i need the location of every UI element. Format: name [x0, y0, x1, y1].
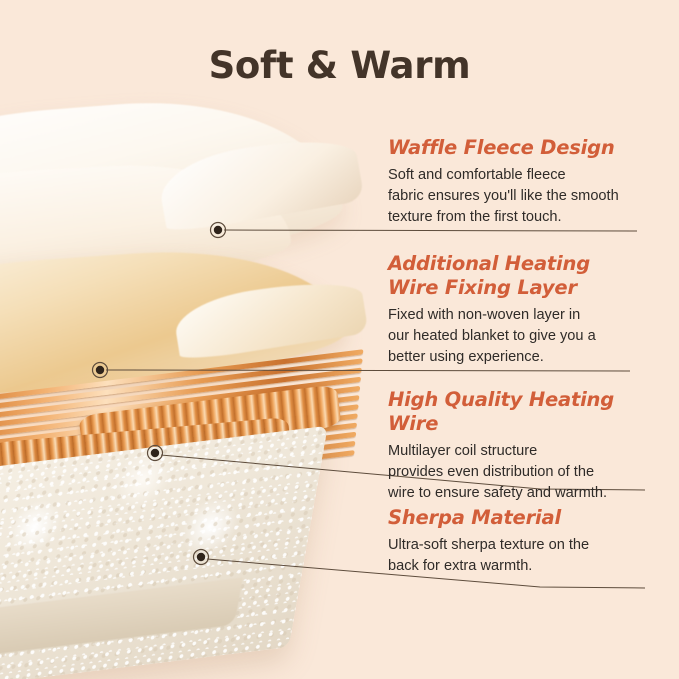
product-infographic: Soft & Warm Waffle Fleece Design Soft an…	[0, 0, 679, 679]
feature-body: Multilayer coil structure provides even …	[388, 441, 656, 504]
feature-heading: Waffle Fleece Design	[388, 136, 656, 160]
feature-heading: Sherpa Material	[388, 506, 656, 530]
product-illustration	[0, 0, 380, 679]
feature-body: Soft and comfortable fleece fabric ensur…	[388, 165, 656, 228]
feature-body: Ultra-soft sherpa texture on the back fo…	[388, 535, 656, 577]
feature-heading: High Quality Heating Wire	[388, 388, 656, 436]
feature-callout-high-quality-heating-wire: High Quality Heating Wire Multilayer coi…	[388, 388, 656, 504]
page-title: Soft & Warm	[0, 44, 679, 87]
feature-callout-waffle-fleece-design: Waffle Fleece Design Soft and comfortabl…	[388, 136, 656, 228]
feature-callout-additional-heating-wire-fixing-layer: Additional Heating Wire Fixing Layer Fix…	[388, 252, 656, 368]
feature-body: Fixed with non-woven layer in our heated…	[388, 305, 656, 368]
feature-callout-sherpa-material: Sherpa Material Ultra-soft sherpa textur…	[388, 506, 656, 577]
feature-heading: Additional Heating Wire Fixing Layer	[388, 252, 656, 300]
